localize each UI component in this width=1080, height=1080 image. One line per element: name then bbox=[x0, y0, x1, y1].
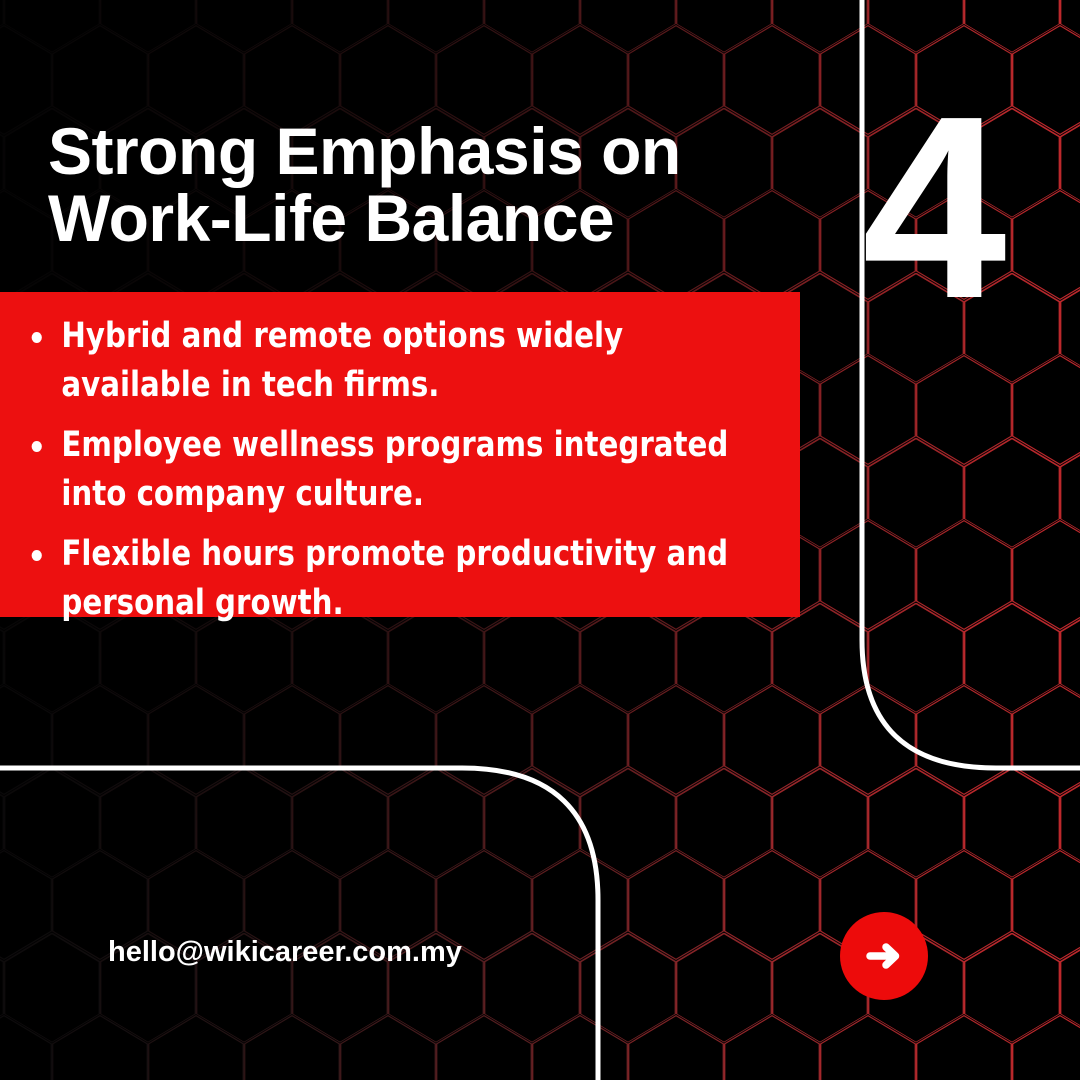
bottom-left-curve-line bbox=[0, 768, 598, 1080]
list-item: Employee wellness programs integrated in… bbox=[0, 421, 763, 518]
next-button[interactable] bbox=[840, 912, 928, 1000]
page-title: Strong Emphasis on Work-Life Balance bbox=[48, 118, 778, 253]
list-item-label: Flexible hours promote productivity and … bbox=[61, 534, 728, 623]
bullet-dot-icon bbox=[32, 550, 42, 561]
arrow-right-icon bbox=[861, 933, 907, 979]
slide-canvas: Strong Emphasis on Work-Life Balance 4 H… bbox=[0, 0, 1080, 1080]
list-item-label: Employee wellness programs integrated in… bbox=[61, 425, 728, 514]
bullet-list: Hybrid and remote options widely availab… bbox=[0, 292, 820, 627]
list-item: Hybrid and remote options widely availab… bbox=[0, 312, 763, 409]
slide-number: 4 bbox=[862, 78, 1072, 338]
contact-email[interactable]: hello@wikicareer.com.my bbox=[108, 936, 462, 969]
list-item-label: Hybrid and remote options widely availab… bbox=[61, 316, 623, 405]
list-item: Flexible hours promote productivity and … bbox=[0, 530, 763, 627]
bullet-dot-icon bbox=[32, 332, 42, 343]
bullet-dot-icon bbox=[32, 441, 42, 452]
